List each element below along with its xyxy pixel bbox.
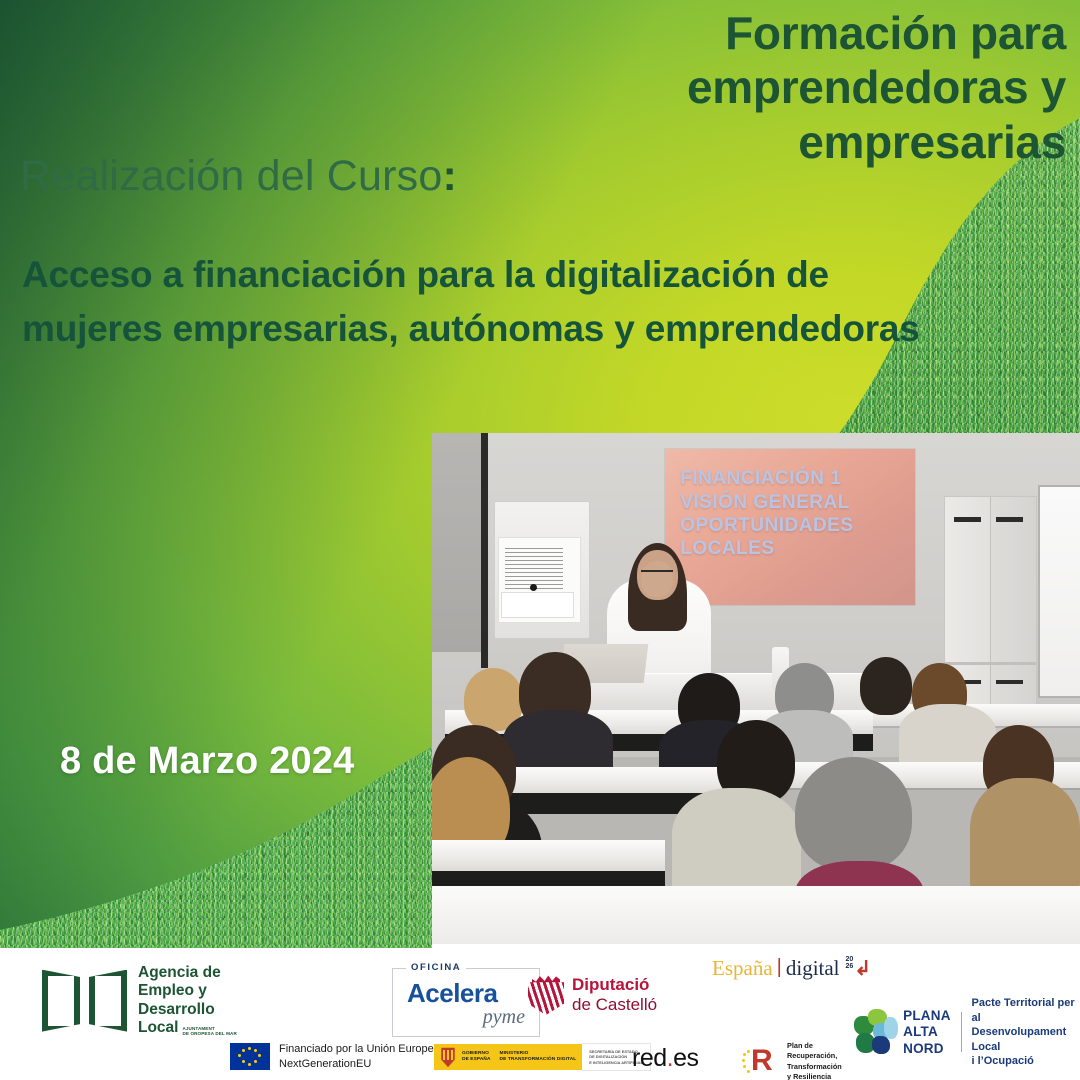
attendee-torso bbox=[899, 704, 996, 767]
logo-plan-recuperacion: R Plan de Recuperación, Transformación y… bbox=[742, 1041, 842, 1080]
eu-line-1: Financiado por la Unión Europea bbox=[279, 1042, 440, 1057]
logo-redes: red.es bbox=[632, 1044, 699, 1073]
wall-notice-lines bbox=[505, 548, 563, 590]
wall-dark-strip bbox=[481, 433, 489, 668]
espana-arrow-icon: ↲ bbox=[854, 956, 871, 981]
prtr-line-3: Transformación bbox=[787, 1062, 842, 1072]
plana-sub-3: i l’Ocupació bbox=[972, 1054, 1080, 1069]
logo-espana-digital: España | digital 20 26 ↲ bbox=[712, 956, 871, 981]
gobierno-yellow-block: GOBIERNO DE ESPAÑA MINISTERIO DE TRANSFO… bbox=[434, 1044, 582, 1070]
plana-sub-1: Pacte Territorial per al bbox=[972, 996, 1080, 1025]
wifi-label bbox=[501, 592, 574, 617]
prtr-line-1: Plan de bbox=[787, 1041, 842, 1051]
logo-diputacio-castello: Diputació de Castelló bbox=[528, 975, 657, 1015]
agencia-line-2: Empleo y bbox=[138, 982, 237, 1000]
agencia-line-1: Agencia de bbox=[138, 964, 237, 982]
diputacio-text: Diputació de Castelló bbox=[572, 975, 657, 1014]
plana-mosaic-icon bbox=[852, 1008, 893, 1056]
plana-divider bbox=[961, 1012, 962, 1052]
logo-agencia-empleo: Agencia de Empleo y Desarrollo Local AJU… bbox=[42, 964, 237, 1037]
presenter-glasses bbox=[641, 570, 673, 580]
acelera-pyme-word: pyme bbox=[407, 1007, 525, 1027]
event-date: 8 de Marzo 2024 bbox=[60, 740, 354, 783]
espana-separator: | bbox=[777, 956, 782, 979]
gobierno-text: GOBIERNO DE ESPAÑA bbox=[462, 1051, 491, 1063]
course-eyebrow-label: Realización del Curso bbox=[20, 152, 442, 200]
espana-year: 20 26 bbox=[846, 956, 854, 970]
plana-line-2: ALTA bbox=[903, 1024, 951, 1040]
eu-line-2: NextGenerationEU bbox=[279, 1057, 440, 1072]
agencia-municipality: AJUNTAMENT DE OROPESA DEL MAR bbox=[182, 1026, 236, 1037]
plana-sub-2: Desenvolupament Local bbox=[972, 1025, 1080, 1054]
locker-divider bbox=[990, 497, 991, 727]
attendee-torso bbox=[970, 778, 1080, 893]
plana-subtitle: Pacte Territorial per al Desenvolupament… bbox=[972, 996, 1080, 1069]
page-title: Formación para emprendedoras y empresari… bbox=[406, 6, 1066, 169]
agencia-bracket-icon bbox=[42, 970, 127, 1032]
espana-word: España bbox=[712, 956, 773, 981]
headline-line-1: Formación para bbox=[406, 6, 1066, 60]
ministerio-line-2: DE TRANSFORMACIÓN DIGITAL bbox=[500, 1057, 577, 1063]
logo-gobierno-espana: GOBIERNO DE ESPAÑA MINISTERIO DE TRANSFO… bbox=[434, 1043, 651, 1071]
eu-text: Financiado por la Unión Europea NextGene… bbox=[279, 1042, 440, 1071]
diputacio-shield-icon bbox=[528, 975, 564, 1015]
attendee-head-grey bbox=[795, 757, 912, 872]
prtr-line-2: Recuperación, bbox=[787, 1051, 842, 1061]
slide-line-3: OPORTUNIDADES bbox=[680, 514, 910, 537]
prtr-letter: R bbox=[751, 1046, 777, 1077]
eu-flag-icon bbox=[230, 1043, 270, 1070]
acelera-wordmark: Acelera bbox=[407, 981, 525, 1006]
plana-line-1: PLANA bbox=[903, 1008, 951, 1024]
gobierno-coat-of-arms-icon bbox=[440, 1046, 456, 1068]
wall-left-panel bbox=[432, 433, 484, 652]
agencia-text: Agencia de Empleo y Desarrollo Local AJU… bbox=[138, 964, 237, 1037]
attendee-head bbox=[860, 657, 912, 714]
course-eyebrow-colon: : bbox=[442, 152, 457, 200]
logo-plana-alta-nord: PLANA ALTA NORD Pacte Territorial per al… bbox=[852, 996, 1080, 1069]
slide-line-2: VISIÓN GENERAL bbox=[680, 491, 910, 514]
course-title-line-1: Acceso a financiación para la digitaliza… bbox=[22, 248, 1062, 302]
prtr-line-4: y Resiliencia bbox=[787, 1072, 842, 1080]
agencia-line-3: Desarrollo bbox=[138, 1001, 237, 1019]
digital-word: digital bbox=[786, 956, 840, 981]
locker-handle-2 bbox=[996, 680, 1023, 684]
course-title: Acceso a financiación para la digitaliza… bbox=[22, 248, 1062, 355]
projected-slide-text: FINANCIACIÓN 1 VISIÓN GENERAL OPORTUNIDA… bbox=[680, 467, 910, 560]
locker-row-divider bbox=[945, 662, 1036, 665]
poster: FINANCIACIÓN 1 VISIÓN GENERAL OPORTUNIDA… bbox=[0, 0, 1080, 1080]
agencia-sub-line-2: DE OROPESA DEL MAR bbox=[182, 1031, 236, 1036]
logo-acelera-pyme: OFICINA Acelera pyme bbox=[392, 968, 540, 1037]
projected-slide: FINANCIACIÓN 1 VISIÓN GENERAL OPORTUNIDA… bbox=[665, 449, 914, 606]
desk-row-3 bbox=[432, 840, 665, 871]
agencia-sub-line-1: AJUNTAMENT bbox=[182, 1026, 214, 1031]
espana-year-top: 20 bbox=[846, 956, 854, 963]
redes-part-2: es bbox=[673, 1044, 698, 1073]
headline-line-2: emprendedoras y bbox=[406, 60, 1066, 114]
classroom-training-photo: FINANCIACIÓN 1 VISIÓN GENERAL OPORTUNIDA… bbox=[432, 433, 1080, 955]
acelera-oficina-label: OFICINA bbox=[406, 962, 466, 973]
redes-part-1: red bbox=[632, 1044, 667, 1073]
prtr-text: Plan de Recuperación, Transformación y R… bbox=[787, 1041, 842, 1080]
slide-line-1: FINANCIACIÓN 1 bbox=[680, 467, 910, 490]
attendee-torso-fleece bbox=[672, 788, 802, 892]
slide-line-4: LOCALES bbox=[680, 537, 910, 560]
course-eyebrow: Realización del Curso: bbox=[20, 152, 457, 201]
course-title-line-2: mujeres empresarias, autónomas y emprend… bbox=[22, 302, 1062, 356]
ministerio-text: MINISTERIO DE TRANSFORMACIÓN DIGITAL bbox=[500, 1051, 577, 1063]
diputacio-line-1: Diputació bbox=[572, 975, 657, 995]
desk-row-front bbox=[432, 886, 1080, 943]
plana-line-3: NORD bbox=[903, 1041, 951, 1057]
plana-wordmark: PLANA ALTA NORD bbox=[903, 1008, 951, 1057]
logo-european-union: Financiado por la Unión Europea NextGene… bbox=[230, 1042, 440, 1071]
footer-logo-bar: Agencia de Empleo y Desarrollo Local AJU… bbox=[0, 948, 1080, 1080]
espana-year-bottom: 26 bbox=[846, 963, 854, 970]
whiteboard bbox=[1038, 485, 1080, 698]
agencia-line-4: Local bbox=[138, 1019, 178, 1037]
prtr-icon: R bbox=[742, 1046, 780, 1077]
diputacio-line-2: de Castelló bbox=[572, 995, 657, 1015]
gobierno-line-2: DE ESPAÑA bbox=[462, 1057, 491, 1063]
headline-line-3: empresarias bbox=[406, 115, 1066, 169]
